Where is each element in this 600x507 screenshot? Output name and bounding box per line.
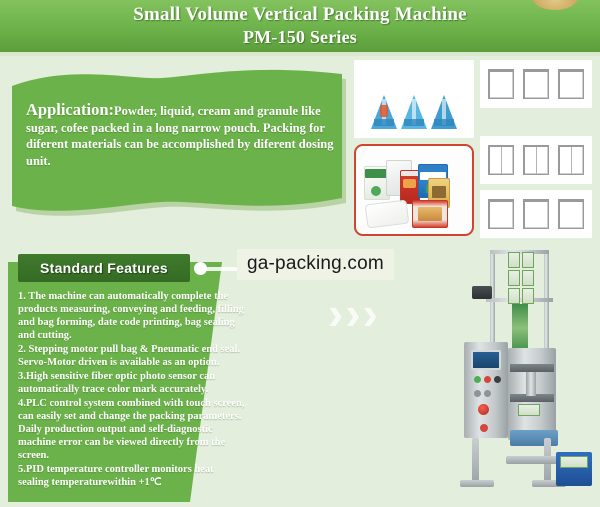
pyramid-sachet-photo [354, 60, 474, 138]
machine-forming-tube [526, 372, 536, 396]
pyramid-seal-band [404, 119, 424, 126]
chevron-right-icon: › [328, 290, 343, 336]
page-title-line-2: PM-150 Series [0, 26, 600, 49]
sachet-red-snack-graphic [418, 207, 442, 221]
page-header: Small Volume Vertical Packing Machine PM… [0, 0, 600, 52]
broken-image-placeholder-icon [523, 69, 549, 99]
pyramid-print-label [380, 105, 388, 117]
machine-selector-knob-2 [484, 390, 491, 397]
machine-film-sachet-3 [508, 270, 520, 286]
machine-button-black [494, 376, 501, 383]
list-item: 1. The machine can automatically complet… [18, 290, 246, 342]
application-panel: Application:Powder, liquid, cream and gr… [12, 58, 342, 226]
pyramid-sachet-1 [371, 95, 397, 129]
packing-machine-photo [438, 244, 596, 502]
machine-film-sachet-6 [522, 288, 534, 304]
application-text-block: Application:Powder, liquid, cream and gr… [26, 102, 336, 169]
machine-film-web [512, 304, 528, 352]
machine-collected-sachets [560, 456, 588, 468]
site-watermark: ga-packing.com [237, 249, 394, 280]
page-title-line-1: Small Volume Vertical Packing Machine [0, 3, 600, 26]
standard-features-tab: Standard Features [18, 254, 190, 282]
machine-frame-post-right [544, 250, 549, 354]
placeholder-divider [571, 147, 572, 174]
machine-film-sachet-2 [522, 252, 534, 268]
broken-image-placeholder-icon [523, 199, 549, 229]
sachet-yellow-window [432, 186, 446, 198]
broken-image-placeholder-icon [558, 69, 584, 99]
pyramid-seal-band [374, 119, 394, 126]
machine-film-sachet-1 [508, 252, 520, 268]
placeholder-divider [536, 147, 537, 174]
broken-image-placeholder-icon [488, 199, 514, 229]
broken-image-placeholder-icon [488, 145, 514, 175]
pyramid-seal-band [434, 119, 454, 126]
sachet-red-graphic [403, 179, 416, 188]
pyramid-sachet-2 [401, 95, 427, 129]
machine-film-sachet-4 [522, 270, 534, 286]
application-label: Application: [26, 100, 114, 119]
machine-base-foot-left [460, 480, 494, 487]
machine-base-platform [506, 456, 562, 464]
machine-output-sachet [518, 404, 540, 416]
machine-emergency-stop-button [478, 404, 489, 415]
machine-frame-post-left [490, 250, 495, 354]
machine-indicator-lamp [480, 424, 488, 432]
machine-button-red [484, 376, 491, 383]
pyramid-sachet-3 [431, 95, 457, 129]
machine-sealing-jaw-upper [510, 364, 554, 372]
standard-features-tab-label: Standard Features [40, 260, 168, 276]
sachet-white-pillow [365, 200, 410, 229]
sachet-samples-photo [354, 144, 474, 236]
chevron-right-icon: › [363, 290, 378, 336]
machine-leg-left [472, 438, 479, 486]
list-item: 5.PID temperature controller monitors he… [18, 463, 246, 489]
features-list: 1. The machine can automatically complet… [18, 290, 246, 490]
chevron-arrow-group: › › › [328, 290, 378, 336]
machine-selector-knob-1 [474, 390, 481, 397]
broken-image-row-bottom [480, 190, 592, 238]
broken-image-placeholder-icon [558, 145, 584, 175]
standard-features-panel: Standard Features 1. The machine can aut… [8, 262, 254, 502]
broken-image-row-top [480, 60, 592, 108]
list-item: 2. Stepping motor pull bag & Pneumatic e… [18, 343, 246, 369]
machine-hmi-touchscreen [471, 350, 501, 370]
list-item: 3.High sensitive fiber optic photo senso… [18, 370, 246, 396]
machine-date-coder [472, 286, 492, 299]
machine-film-sachet-5 [508, 288, 520, 304]
placeholder-divider [501, 147, 502, 174]
broken-image-placeholder-icon [558, 199, 584, 229]
broken-image-row-middle [480, 136, 592, 184]
broken-image-placeholder-icon [488, 69, 514, 99]
broken-image-placeholder-icon [523, 145, 549, 175]
machine-button-green [474, 376, 481, 383]
chevron-right-icon: › [345, 290, 360, 336]
header-title-block: Small Volume Vertical Packing Machine PM… [0, 3, 600, 49]
sachet-green-band [365, 169, 387, 178]
sachet-green-logo [371, 186, 381, 196]
pyramid-sachet-group [354, 60, 474, 138]
list-item: 4.PLC control system combined with touch… [18, 397, 246, 462]
header-underline [0, 52, 600, 56]
